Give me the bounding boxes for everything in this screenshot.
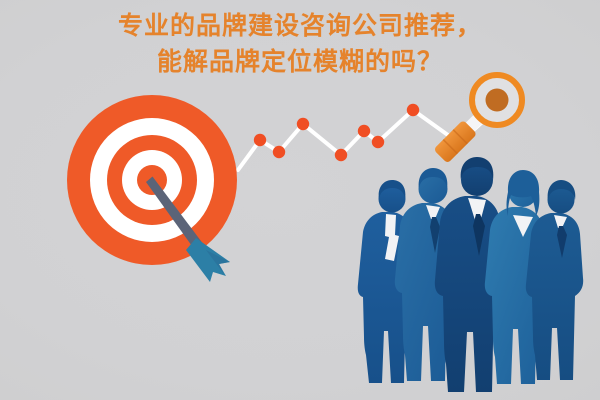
magnifying-glass-icon <box>433 75 522 164</box>
person-silhouette-5 <box>526 180 583 380</box>
chart-point <box>407 104 419 116</box>
chart-point <box>254 134 266 146</box>
chart-point <box>358 125 370 137</box>
magnifier-focus-dot <box>486 89 509 112</box>
chart-markers <box>254 104 465 161</box>
banner-canvas: 专业的品牌建设咨询公司推荐， 能解品牌定位模糊的吗？ <box>0 0 600 400</box>
chart-point <box>335 149 347 161</box>
chart-point <box>273 146 285 158</box>
chart-point <box>372 136 384 148</box>
business-team-silhouettes <box>358 157 583 392</box>
banner-artwork <box>0 0 600 400</box>
chart-point <box>297 118 309 130</box>
